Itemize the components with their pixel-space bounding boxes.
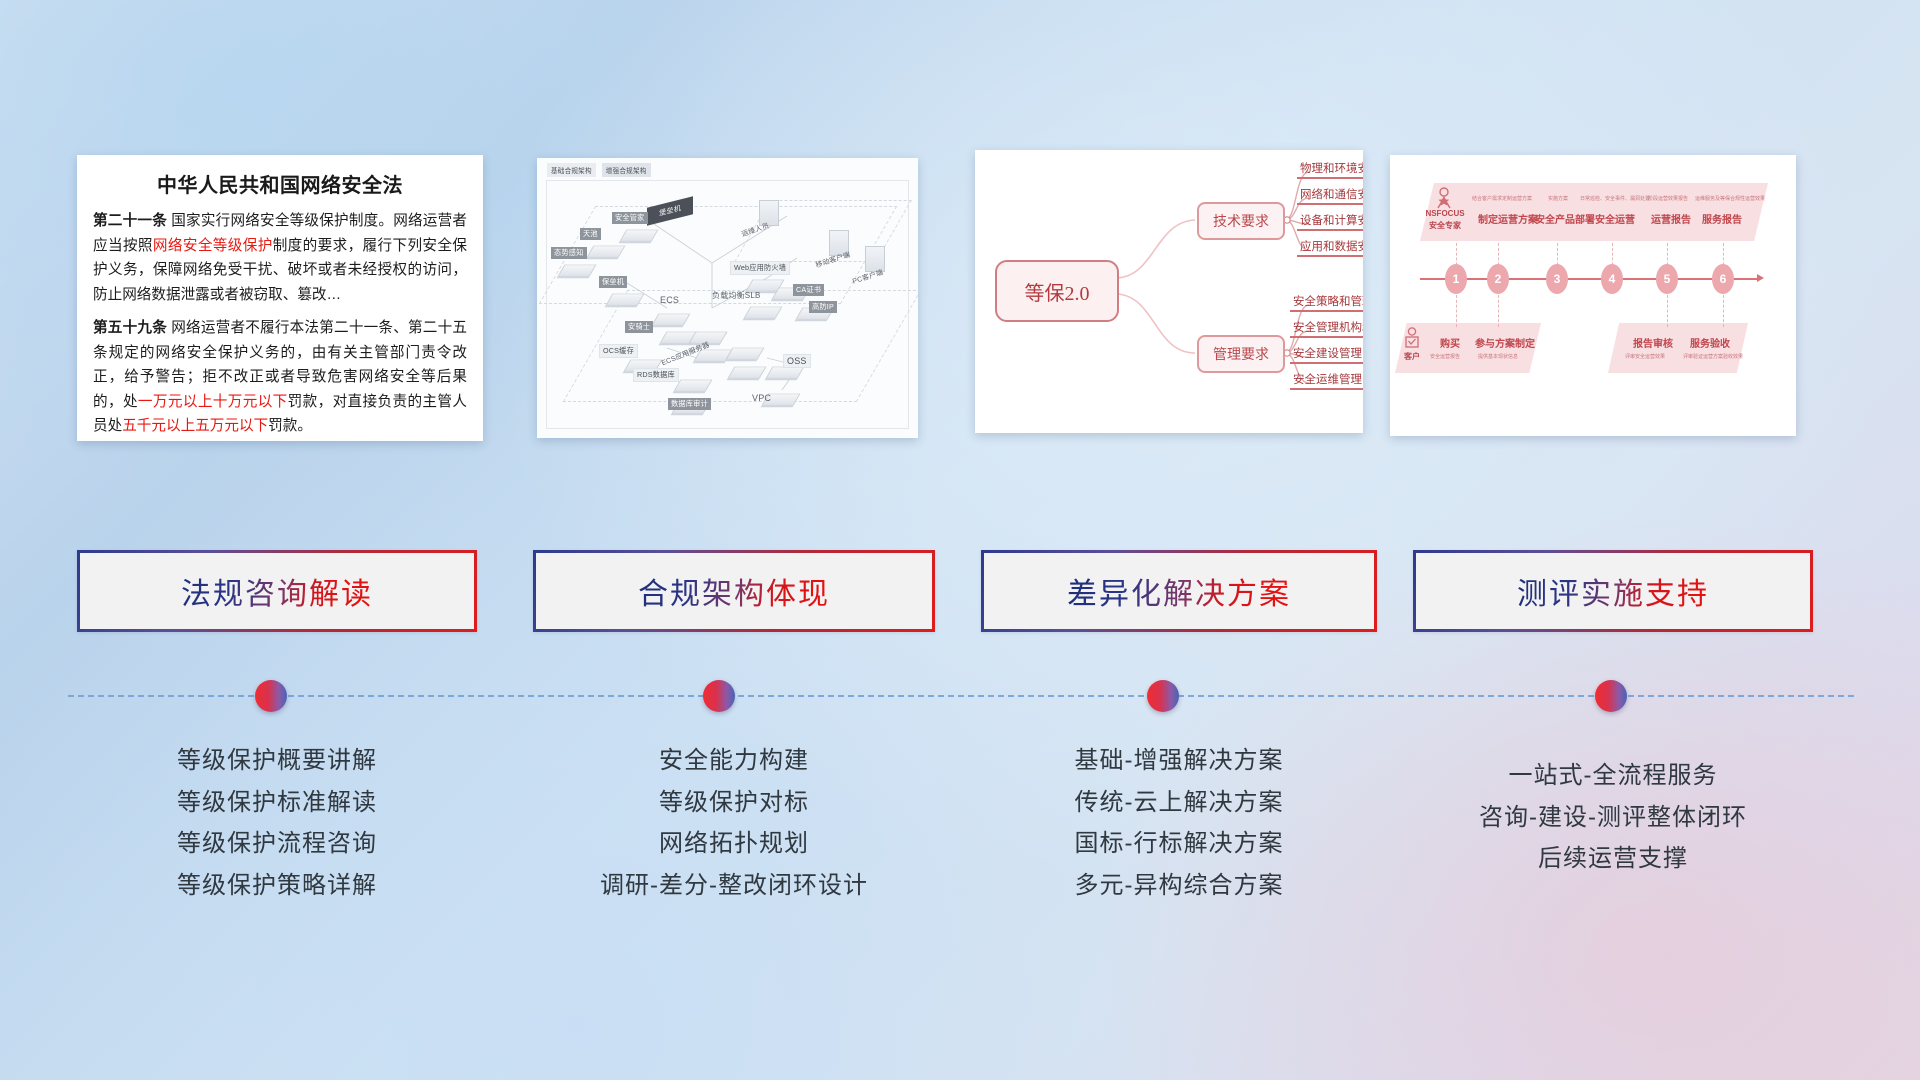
top-step-3-sub: 日常巡检、安全事件、漏洞处置 (1580, 195, 1650, 202)
slide-canvas: 中华人民共和国网络安全法 第二十一条 国家实行网络安全等级保护制度。网络运营者应… (0, 0, 1920, 1080)
mindmap-root: 等保2.0 (995, 260, 1119, 322)
label-box-2-text: 合规架构体现 (638, 569, 830, 613)
node-label-rds: RDS数据库 (633, 368, 679, 382)
mindmap-leaf-mgmt-2: 安全管理机构和人员 (1290, 319, 1363, 338)
label-box-compliance-architecture[interactable]: 合规架构体现 (533, 550, 935, 632)
process-tick-1b (1456, 295, 1457, 327)
top-step-4-sub: 阶段运营效果报告 (1648, 195, 1688, 202)
article-21-label: 第二十一条 (93, 213, 167, 229)
mindmap-leaf-tech-4: 应用和数据安全 (1297, 238, 1363, 257)
process-axis-arrow-icon (1757, 274, 1764, 282)
expert-role-line-1: NSFOCUS (1422, 209, 1468, 218)
law-body: 中华人民共和国网络安全法 第二十一条 国家实行网络安全等级保护制度。网络运营者应… (77, 155, 483, 441)
list-item: 一站式-全流程服务 (1413, 755, 1813, 797)
card-mindmap: 等保2.0 技术要求 管理要求 物理和环境安全 网络和通信安全 设备和计算安全 … (975, 150, 1363, 433)
architecture-canvas: 基础合规架构 增强合规架构 (537, 158, 918, 438)
node-label-anqishi: 安骑士 (625, 321, 653, 333)
list-item: 多元-异构综合方案 (981, 865, 1377, 907)
top-step-5-sub: 运维服务及等保合规性运营效果 (1695, 195, 1765, 202)
node-label-situation-awareness: 态势感知 (551, 247, 587, 259)
card-architecture-diagram: 基础合规架构 增强合规架构 (537, 158, 918, 438)
process-tick-6b (1723, 295, 1724, 327)
node-label-security-butler: 安全管家 (612, 212, 648, 224)
process-marker-5: 5 (1656, 264, 1678, 294)
list-item: 调研-差分-整改闭环设计 (533, 865, 935, 907)
bottom-step-4-title: 服务验收 (1690, 335, 1730, 350)
node-label-slb: 负载均衡SLB (709, 289, 764, 302)
article-21-highlight: 网络安全等级保护 (153, 238, 273, 254)
customer-role-label: 客户 (1400, 351, 1424, 362)
article-59-highlight-2: 五千元以上五万元以下 (122, 418, 268, 434)
label-box-4-text: 测评实施支持 (1517, 569, 1709, 613)
node-icon-app-server-3 (726, 348, 765, 360)
timeline-dot-1 (255, 680, 287, 712)
process-marker-2: 2 (1487, 264, 1509, 294)
node-label-db-audit: 数据库审计 (668, 398, 711, 410)
timeline-dashed-line (68, 695, 1854, 697)
timeline-dot-3 (1147, 680, 1179, 712)
card-process-timeline: NSFOCUS 安全专家 客户 结合客户需求定制运营方案 制定运营方案 实施方案… (1390, 155, 1796, 436)
mindmap-branch-technical: 技术要求 (1197, 202, 1285, 240)
bottom-step-3-sub: 评审安全运营效果 (1625, 353, 1665, 360)
process-axis (1420, 278, 1760, 280)
bottom-step-2-title: 参与方案制定 (1475, 335, 1535, 350)
detail-list-2: 安全能力构建 等级保护对标 网络拓扑规划 调研-差分-整改闭环设计 (533, 740, 935, 906)
expert-role-line-2: 安全专家 (1422, 220, 1468, 231)
list-item: 等级保护对标 (533, 782, 935, 824)
node-icon-security-butler (620, 230, 659, 242)
list-item: 等级保护标准解读 (77, 782, 477, 824)
node-icon-oss (766, 367, 805, 379)
node-label-ca-cert: CA证书 (793, 284, 824, 296)
detail-list-4: 一站式-全流程服务 咨询-建设-测评整体闭环 后续运营支撑 (1413, 755, 1813, 880)
list-item: 传统-云上解决方案 (981, 782, 1377, 824)
node-icon-slb (744, 307, 783, 319)
top-step-2-title: 安全产品部署 (1535, 211, 1595, 226)
process-marker-1: 1 (1445, 264, 1467, 294)
node-label-ecs: ECS (657, 294, 682, 306)
law-article-21: 第二十一条 国家实行网络安全等级保护制度。网络运营者应当按照网络安全等级保护制度… (93, 209, 467, 307)
list-item: 咨询-建设-测评整体闭环 (1413, 797, 1813, 839)
label-box-3-text: 差异化解决方案 (1067, 569, 1291, 613)
bottom-step-4-sub: 评审验证运营方案验收效果 (1683, 353, 1743, 360)
timeline-dot-4 (1595, 680, 1627, 712)
list-item: 等级保护策略详解 (77, 865, 477, 907)
list-item: 国标-行标解决方案 (981, 823, 1377, 865)
mindmap-leaf-mgmt-3: 安全建设管理 (1290, 345, 1363, 364)
process-marker-4: 4 (1601, 264, 1623, 294)
law-article-59: 第五十九条 网络运营者不履行本法第二十一条、第二十五条规定的网络安全保护义务的，… (93, 316, 467, 439)
law-title: 中华人民共和国网络安全法 (93, 169, 467, 198)
node-icon-rds (674, 380, 713, 392)
label-box-evaluation-support[interactable]: 测评实施支持 (1413, 550, 1813, 632)
list-item: 安全能力构建 (533, 740, 935, 782)
process-marker-6: 6 (1712, 264, 1734, 294)
list-item: 后续运营支撑 (1413, 838, 1813, 880)
expert-person-icon (1435, 187, 1453, 209)
node-icon-ecs (652, 314, 691, 326)
node-label-oss: OSS (783, 354, 811, 368)
list-item: 等级保护概要讲解 (77, 740, 477, 782)
timeline-dot-2 (703, 680, 735, 712)
top-step-2-sub: 实施方案 (1548, 195, 1568, 202)
node-label-tianchi: 天池 (580, 228, 601, 240)
node-label-waf: Web应用防火墙 (730, 261, 790, 275)
node-label-vpc: VPC (749, 392, 774, 404)
process-tick-5b (1667, 295, 1668, 327)
card-law-text: 中华人民共和国网络安全法 第二十一条 国家实行网络安全等级保护制度。网络运营者应… (77, 155, 483, 441)
list-item: 等级保护流程咨询 (77, 823, 477, 865)
bottom-step-1-sub: 安全运营报告 (1430, 353, 1460, 360)
node-icon-bastion-host (606, 294, 645, 306)
detail-list-3: 基础-增强解决方案 传统-云上解决方案 国标-行标解决方案 多元-异构综合方案 (981, 740, 1377, 906)
bottom-step-2-sub: 提供基本现状信息 (1478, 353, 1518, 360)
label-box-regulation-consulting[interactable]: 法规咨询解读 (77, 550, 477, 632)
label-box-1-text: 法规咨询解读 (181, 569, 373, 613)
top-step-1-title: 制定运营方案 (1478, 211, 1538, 226)
article-59-label: 第五十九条 (93, 320, 167, 336)
bottom-step-1-title: 购买 (1440, 335, 1460, 350)
node-icon-tianchi (587, 246, 626, 258)
list-item: 网络拓扑规划 (533, 823, 935, 865)
mindmap-leaf-tech-1: 物理和环境安全 (1297, 160, 1363, 179)
article-59-text-c: 罚款。 (268, 418, 312, 434)
node-label-bastion-host: 保垒机 (599, 276, 627, 288)
mindmap-leaf-tech-3: 设备和计算安全 (1297, 212, 1363, 231)
node-icon-situation-awareness (558, 265, 597, 277)
top-step-3-title: 安全运营 (1595, 211, 1635, 226)
list-item: 基础-增强解决方案 (981, 740, 1377, 782)
top-step-1-sub: 结合客户需求定制运营方案 (1472, 195, 1532, 202)
mindmap-branch-management: 管理要求 (1197, 335, 1285, 373)
process-tick-2b (1498, 295, 1499, 327)
mindmap-canvas: 等保2.0 技术要求 管理要求 物理和环境安全 网络和通信安全 设备和计算安全 … (975, 150, 1363, 433)
customer-person-icon (1404, 327, 1420, 349)
node-icon-app-server-4 (728, 367, 767, 379)
node-label-ocs-cache: OCS缓存 (599, 344, 638, 358)
process-marker-3: 3 (1546, 264, 1568, 294)
top-step-5-title: 服务报告 (1702, 211, 1742, 226)
process-canvas: NSFOCUS 安全专家 客户 结合客户需求定制运营方案 制定运营方案 实施方案… (1390, 155, 1796, 436)
top-step-4-title: 运营报告 (1651, 211, 1691, 226)
label-box-differentiated-solution[interactable]: 差异化解决方案 (981, 550, 1377, 632)
node-label-anti-ddos-ip: 高防IP (809, 301, 837, 313)
article-59-highlight-1: 一万元以上十万元以下 (138, 394, 288, 410)
bottom-step-3-title: 报告审核 (1633, 335, 1673, 350)
detail-list-1: 等级保护概要讲解 等级保护标准解读 等级保护流程咨询 等级保护策略详解 (77, 740, 477, 906)
mindmap-leaf-tech-2: 网络和通信安全 (1297, 186, 1363, 205)
mindmap-leaf-mgmt-4: 安全运维管理 (1290, 371, 1363, 390)
mindmap-leaf-mgmt-1: 安全策略和管理制度 (1290, 293, 1363, 312)
